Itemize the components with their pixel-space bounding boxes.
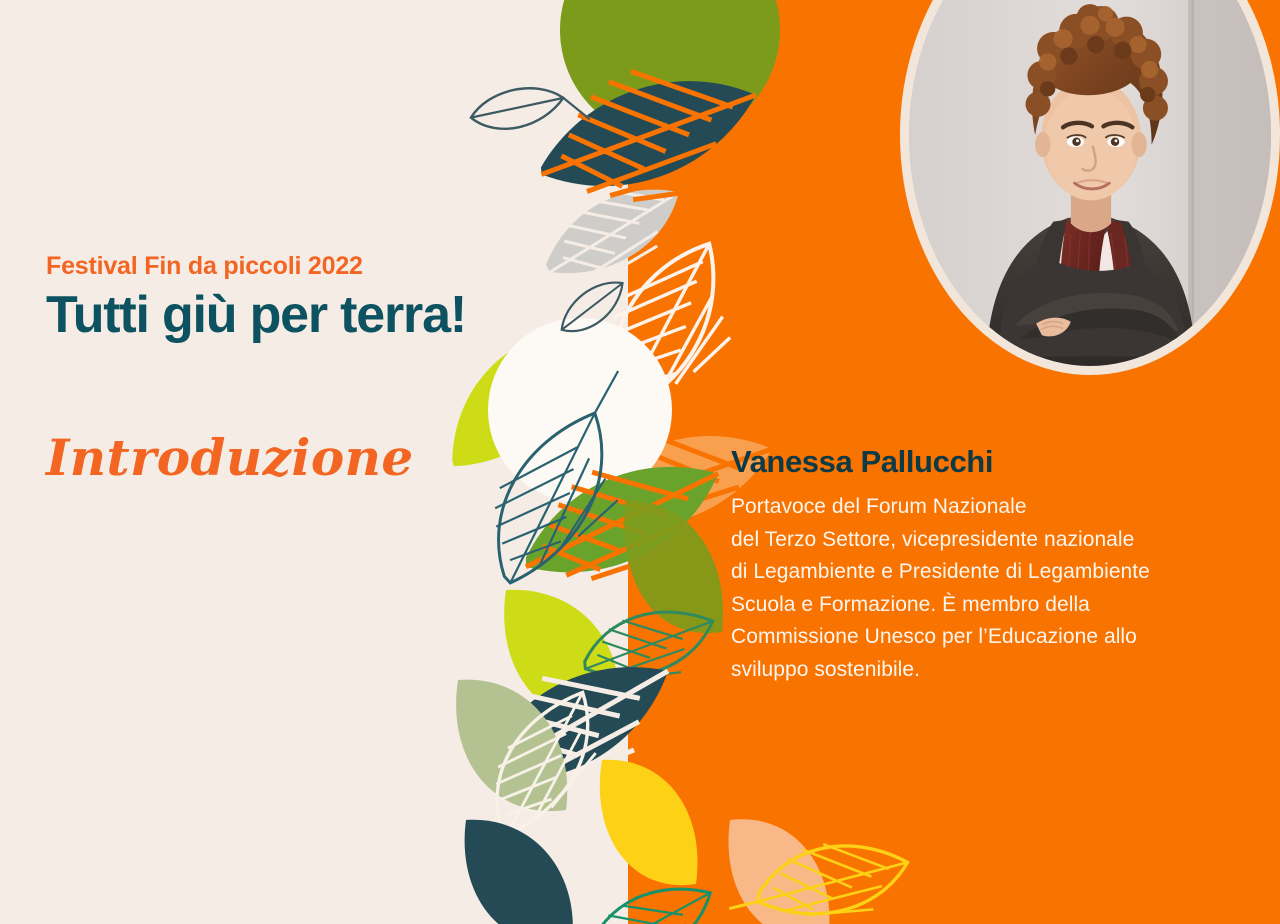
bio-line: sviluppo sostenibile.	[731, 654, 1251, 687]
poster-canvas: 12 novembre 2022 Festival Fin da piccoli…	[0, 0, 1280, 924]
section-label: Introduzione	[46, 430, 586, 485]
bio-line: di Legambiente e Presidente di Legambien…	[731, 556, 1251, 589]
speaker-name: Vanessa Pallucchi	[731, 443, 1251, 480]
left-text-block: Festival Fin da piccoli 2022 Tutti giù p…	[46, 252, 586, 485]
speaker-portrait	[900, 0, 1280, 375]
page-title: Tutti giù per terra!	[46, 287, 586, 344]
bio-line: Commissione Unesco per l’Educazione allo	[731, 621, 1251, 654]
bio-line: Scuola e Formazione. È membro della	[731, 589, 1251, 622]
speaker-bio: Portavoce del Forum Nazionale del Terzo …	[731, 491, 1251, 686]
bio-line: del Terzo Settore, vicepresidente nazion…	[731, 524, 1251, 557]
speaker-text-block: Vanessa Pallucchi Portavoce del Forum Na…	[731, 443, 1251, 686]
festival-eyebrow: Festival Fin da piccoli 2022	[46, 252, 586, 281]
bio-line: Portavoce del Forum Nazionale	[731, 491, 1251, 524]
